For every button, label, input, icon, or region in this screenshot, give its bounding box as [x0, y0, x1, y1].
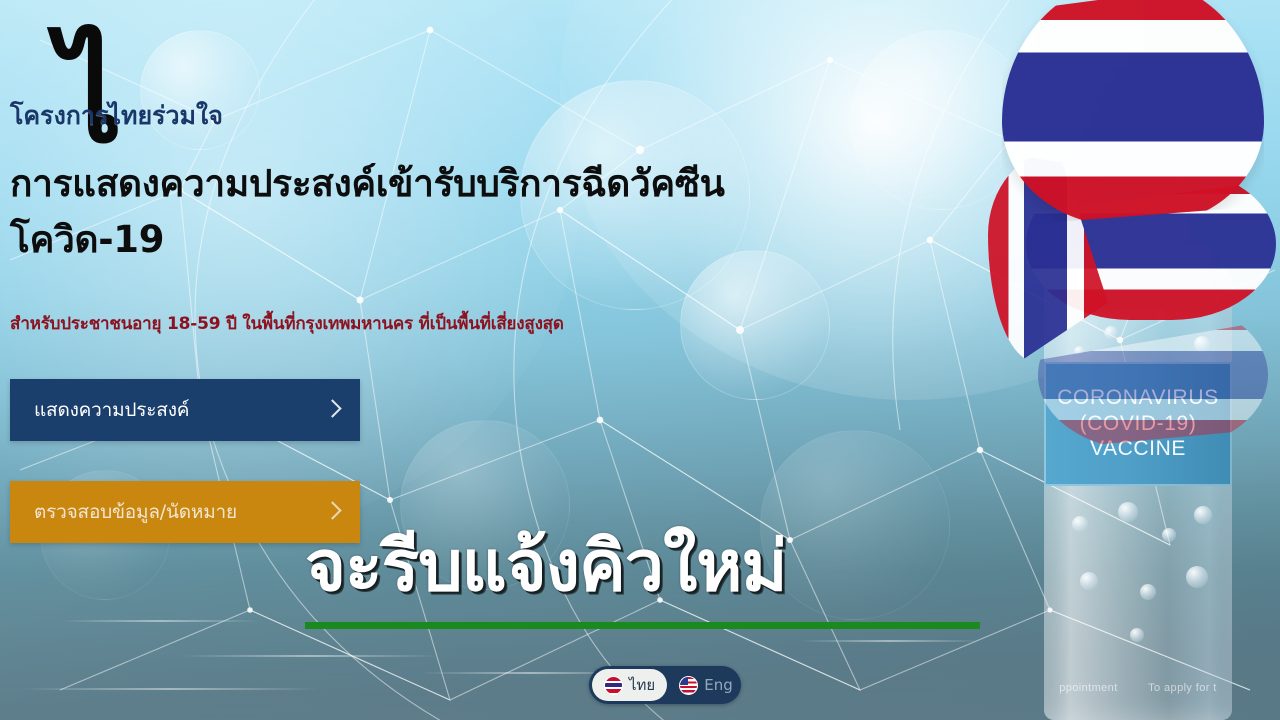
language-option-thai-label: ไทย	[629, 673, 655, 697]
language-option-english[interactable]: Eng	[667, 669, 745, 701]
page-subtitle: สำหรับประชาชนอายุ 18-59 ปี ในพื้นที่กรุง…	[10, 310, 564, 337]
water-ripple	[20, 688, 320, 690]
page-title: การแสดงความประสงค์เข้ารับบริการฉีดวัคซีน…	[10, 156, 910, 268]
vial-bubble	[1118, 502, 1138, 522]
vial-bubble	[1194, 506, 1212, 524]
water-ripple	[800, 640, 980, 642]
water-ripple	[60, 620, 260, 622]
language-toggle[interactable]: ไทย Eng	[589, 666, 741, 704]
vial-bubble	[1072, 516, 1088, 532]
chevron-right-icon	[322, 501, 344, 523]
express-intent-button-label: แสดงความประสงค์	[34, 395, 322, 425]
usa-flag-icon	[679, 676, 698, 695]
overlay-caption-underline	[305, 622, 980, 629]
check-appointment-button-label: ตรวจสอบข้อมูล/นัดหมาย	[34, 497, 322, 527]
overlay-caption: จะรีบแจ้งคิวใหม่	[305, 531, 787, 601]
brand-name: โครงการไทยร่วมใจ	[10, 96, 223, 136]
language-option-english-label: Eng	[704, 676, 733, 694]
chevron-right-icon	[322, 399, 344, 421]
vaccine-vial-illustration: ppointment To apply for the CORONAVIRUS …	[980, 0, 1280, 720]
vial-fine-print-bottom: ppointment To apply for t	[1044, 682, 1232, 694]
vial-bubble	[1080, 572, 1098, 590]
brand-logo[interactable]: ไ โครงการไทยร่วมใจ	[10, 46, 330, 142]
background-sphere	[680, 250, 830, 400]
vial-bubble	[1162, 528, 1176, 542]
vial-bubble	[1186, 566, 1208, 588]
express-intent-button[interactable]: แสดงความประสงค์	[10, 379, 360, 441]
language-option-thai[interactable]: ไทย	[592, 669, 667, 701]
vial-fine-print-bottom-right: To apply for t	[1148, 682, 1217, 694]
background-sphere	[760, 430, 950, 620]
thailand-flag-icon	[604, 676, 623, 695]
vial-bubble	[1130, 628, 1144, 642]
water-ripple	[180, 655, 440, 657]
vial-bubble	[1104, 326, 1118, 340]
vial-bubble	[1140, 584, 1156, 600]
vial-fine-print-bottom-left: ppointment	[1059, 682, 1117, 694]
hero-banner: ppointment To apply for the CORONAVIRUS …	[0, 0, 1280, 720]
thai-flag-ribbon-icon	[1002, 0, 1264, 226]
